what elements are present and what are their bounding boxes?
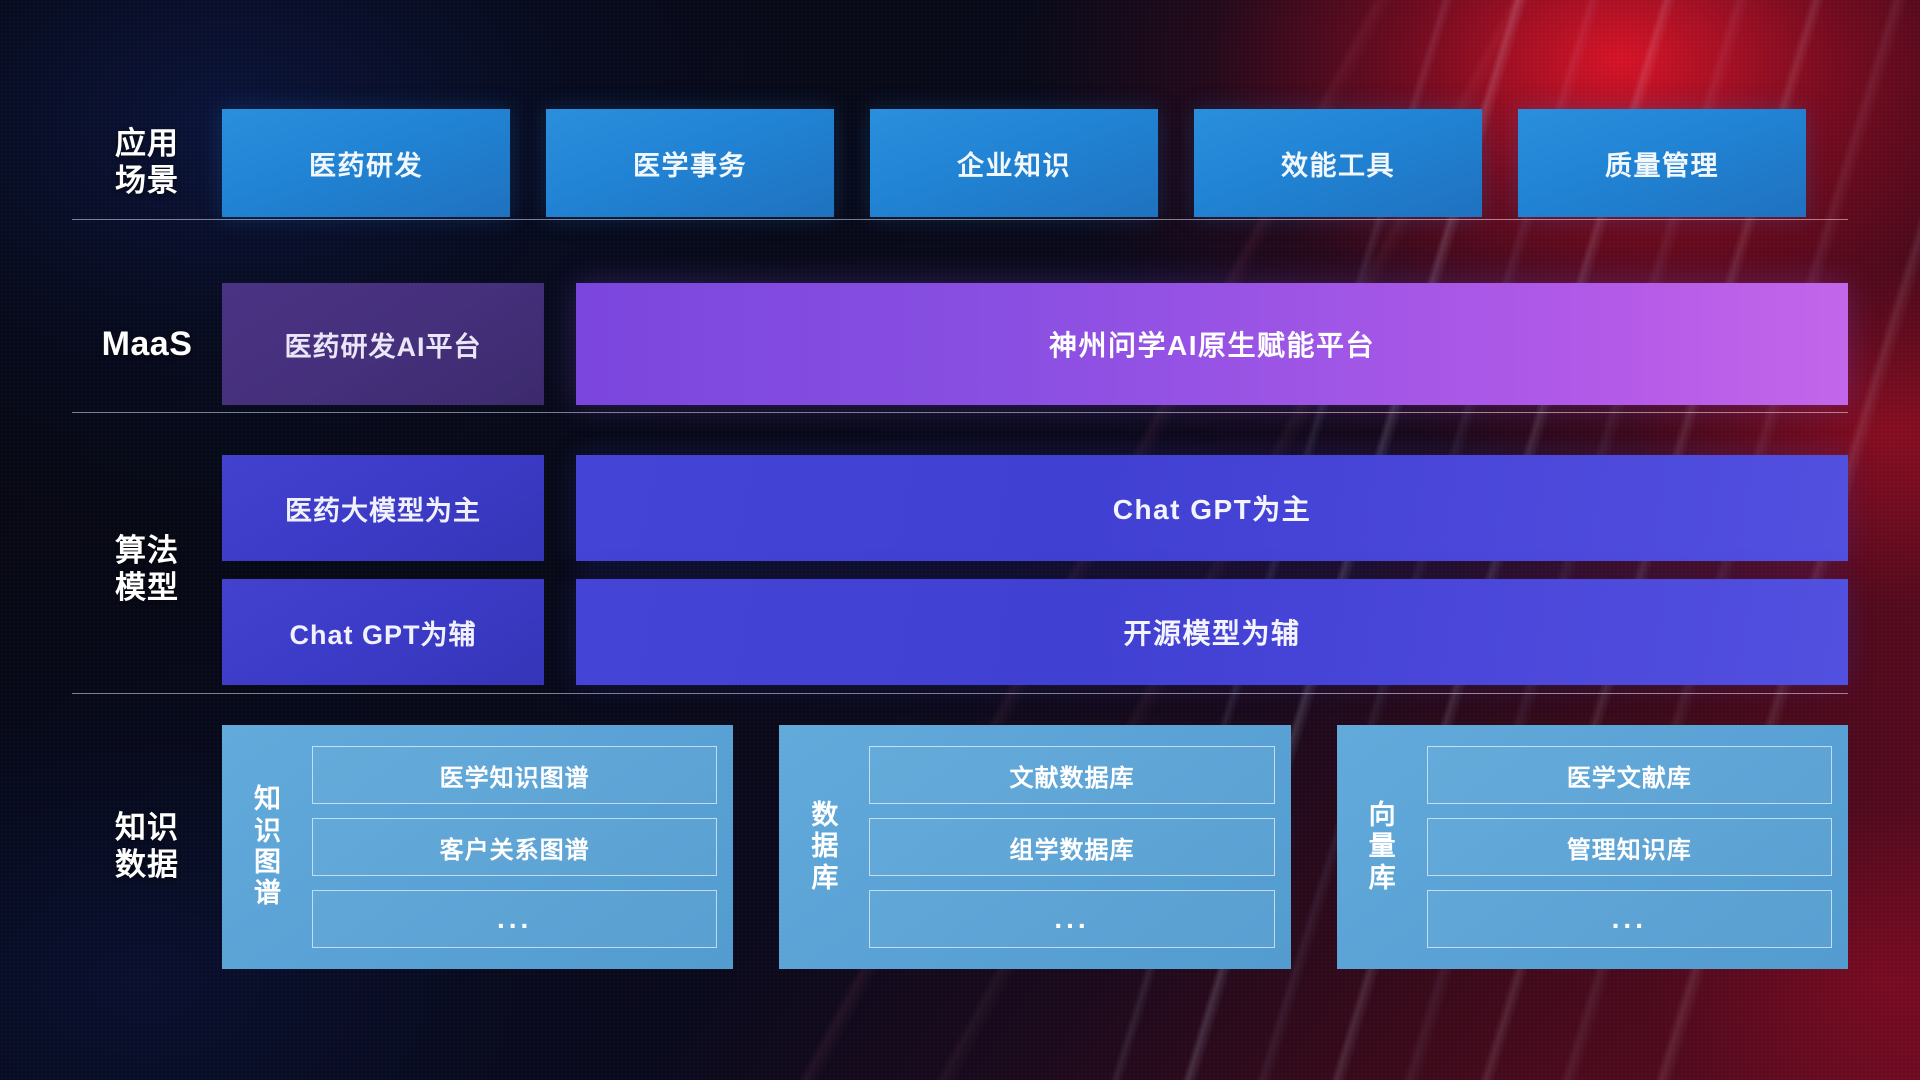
algo-box-chatgpt-primary[interactable]: Chat GPT为主 — [576, 455, 1848, 561]
item-literature-database[interactable]: 文献数据库 — [869, 746, 1274, 804]
item-vector-store-more[interactable]: ... — [1427, 890, 1832, 948]
app-box-medical-affairs[interactable]: 医学事务 — [546, 109, 834, 217]
architecture-grid: 应用 场景 医药研发 医学事务 企业知识 效能工具 质量管理 MaaS 医药研发… — [0, 0, 1920, 1080]
knowledge-data-groups: 知 识 图 谱 医学知识图谱 客户关系图谱 ... 数 据 库 文献数据库 组学… — [222, 725, 1848, 969]
maas-box-shenzhou-wenxue-platform[interactable]: 神州问学AI原生赋能平台 — [576, 283, 1848, 405]
group-title-database: 数 据 库 — [795, 739, 855, 955]
knowledge-group-database: 数 据 库 文献数据库 组学数据库 ... — [779, 725, 1290, 969]
group-title-vector-store: 向 量 库 — [1353, 739, 1413, 955]
item-knowledge-graph-more[interactable]: ... — [312, 890, 717, 948]
divider-algo-knowledge — [72, 693, 1848, 694]
group-items-database: 文献数据库 组学数据库 ... — [869, 739, 1274, 955]
algo-box-chatgpt-secondary[interactable]: Chat GPT为辅 — [222, 579, 544, 685]
row-label-knowledge-data: 知识 数据 — [72, 810, 222, 883]
algo-box-opensource-secondary[interactable]: 开源模型为辅 — [576, 579, 1848, 685]
item-database-more[interactable]: ... — [869, 890, 1274, 948]
divider-apps-maas — [72, 219, 1848, 220]
knowledge-group-knowledge-graph: 知 识 图 谱 医学知识图谱 客户关系图谱 ... — [222, 725, 733, 969]
app-box-quality-management[interactable]: 质量管理 — [1518, 109, 1806, 217]
row-application-scenarios: 应用 场景 医药研发 医学事务 企业知识 效能工具 质量管理 — [72, 108, 1848, 218]
row-algorithm-models: 算法 模型 医药大模型为主 Chat GPT为主 Chat GPT为辅 开源模型… — [72, 455, 1848, 685]
knowledge-group-vector-store: 向 量 库 医学文献库 管理知识库 ... — [1337, 725, 1848, 969]
item-medical-knowledge-graph[interactable]: 医学知识图谱 — [312, 746, 717, 804]
app-box-medicine-rnd[interactable]: 医药研发 — [222, 109, 510, 217]
row-maas: MaaS 医药研发AI平台 神州问学AI原生赋能平台 — [72, 282, 1848, 406]
row-label-algorithm-models: 算法 模型 — [72, 533, 222, 606]
row-label-maas: MaaS — [72, 324, 222, 364]
divider-maas-algo — [72, 412, 1848, 413]
row-label-application-scenarios: 应用 场景 — [72, 126, 222, 199]
item-customer-relation-graph[interactable]: 客户关系图谱 — [312, 818, 717, 876]
maas-box-pharma-ai-platform[interactable]: 医药研发AI平台 — [222, 283, 544, 405]
group-title-knowledge-graph: 知 识 图 谱 — [238, 739, 298, 955]
item-management-knowledge-store[interactable]: 管理知识库 — [1427, 818, 1832, 876]
maas-boxes: 医药研发AI平台 神州问学AI原生赋能平台 — [222, 283, 1848, 405]
algorithm-line-primary: 医药大模型为主 Chat GPT为主 — [222, 455, 1848, 561]
item-omics-database[interactable]: 组学数据库 — [869, 818, 1274, 876]
algorithm-line-secondary: Chat GPT为辅 开源模型为辅 — [222, 579, 1848, 685]
app-box-enterprise-knowledge[interactable]: 企业知识 — [870, 109, 1158, 217]
algorithm-model-boxes: 医药大模型为主 Chat GPT为主 Chat GPT为辅 开源模型为辅 — [222, 455, 1848, 685]
diagram-canvas: 应用 场景 医药研发 医学事务 企业知识 效能工具 质量管理 MaaS 医药研发… — [0, 0, 1920, 1080]
app-box-efficiency-tools[interactable]: 效能工具 — [1194, 109, 1482, 217]
row-knowledge-data: 知识 数据 知 识 图 谱 医学知识图谱 客户关系图谱 ... 数 据 库 文献… — [72, 722, 1848, 972]
group-items-knowledge-graph: 医学知识图谱 客户关系图谱 ... — [312, 739, 717, 955]
application-scenario-boxes: 医药研发 医学事务 企业知识 效能工具 质量管理 — [222, 109, 1848, 217]
item-medical-literature-store[interactable]: 医学文献库 — [1427, 746, 1832, 804]
algo-box-pharma-llm-primary[interactable]: 医药大模型为主 — [222, 455, 544, 561]
group-items-vector-store: 医学文献库 管理知识库 ... — [1427, 739, 1832, 955]
